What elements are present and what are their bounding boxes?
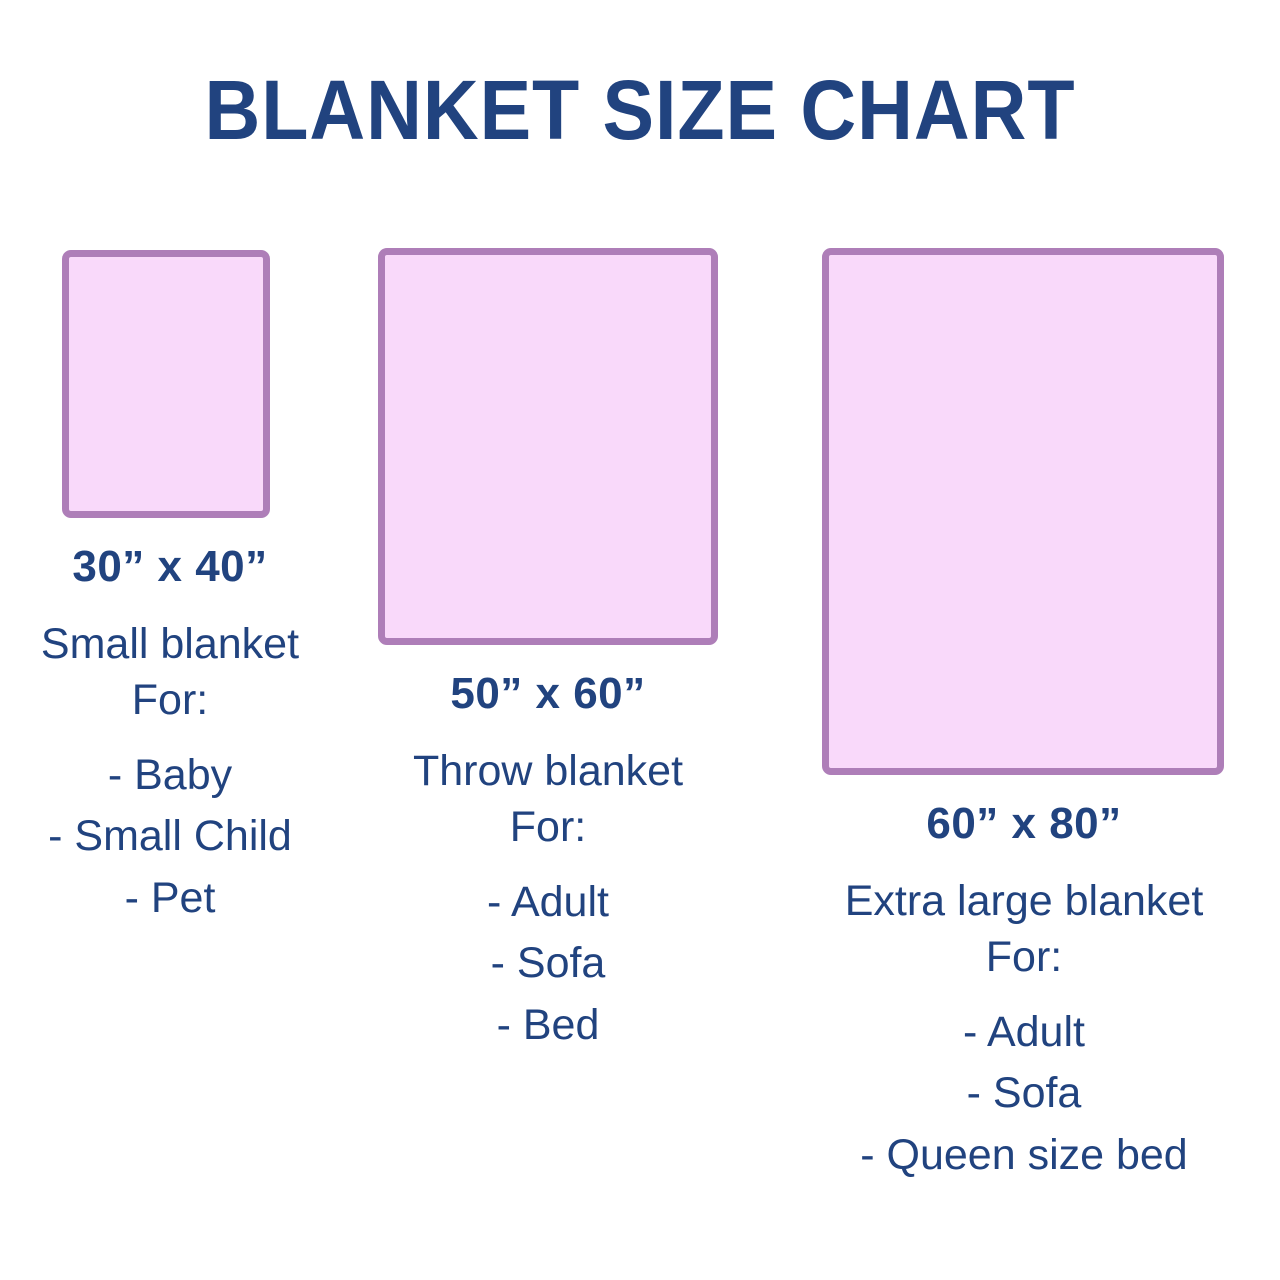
blanket-swatch-extra-large bbox=[822, 248, 1224, 775]
blanket-name-extra-large: Extra large blanket bbox=[800, 874, 1248, 930]
list-item: - Adult bbox=[800, 1002, 1248, 1063]
for-label-extra-large: For: bbox=[800, 930, 1248, 986]
list-item: - Pet bbox=[0, 868, 340, 929]
list-item: - Small Child bbox=[0, 806, 340, 867]
blanket-swatch-small bbox=[62, 250, 270, 518]
use-list-small: - Baby - Small Child - Pet bbox=[0, 745, 340, 929]
for-label-small: For: bbox=[0, 673, 340, 729]
size-dimensions-extra-large: 60” x 80” bbox=[800, 795, 1248, 852]
size-info-throw: 50” x 60” Throw blanket For: - Adult - S… bbox=[378, 665, 718, 1056]
list-item: - Baby bbox=[0, 745, 340, 806]
size-columns: 30” x 40” Small blanket For: - Baby - Sm… bbox=[0, 0, 1280, 1280]
list-item: - Queen size bed bbox=[800, 1125, 1248, 1186]
size-dimensions-throw: 50” x 60” bbox=[378, 665, 718, 722]
size-dimensions-small: 30” x 40” bbox=[0, 538, 340, 595]
blanket-name-throw: Throw blanket bbox=[378, 744, 718, 800]
use-list-extra-large: - Adult - Sofa - Queen size bed bbox=[800, 1002, 1248, 1186]
use-list-throw: - Adult - Sofa - Bed bbox=[378, 872, 718, 1056]
blanket-size-chart-page: BLANKET SIZE CHART 30” x 40” Small blank… bbox=[0, 0, 1280, 1280]
list-item: - Sofa bbox=[378, 933, 718, 994]
blanket-swatch-throw bbox=[378, 248, 718, 645]
list-item: - Bed bbox=[378, 995, 718, 1056]
list-item: - Adult bbox=[378, 872, 718, 933]
blanket-name-small: Small blanket bbox=[0, 617, 340, 673]
size-info-small: 30” x 40” Small blanket For: - Baby - Sm… bbox=[0, 538, 340, 929]
for-label-throw: For: bbox=[378, 800, 718, 856]
list-item: - Sofa bbox=[800, 1063, 1248, 1124]
size-info-extra-large: 60” x 80” Extra large blanket For: - Adu… bbox=[800, 795, 1248, 1186]
